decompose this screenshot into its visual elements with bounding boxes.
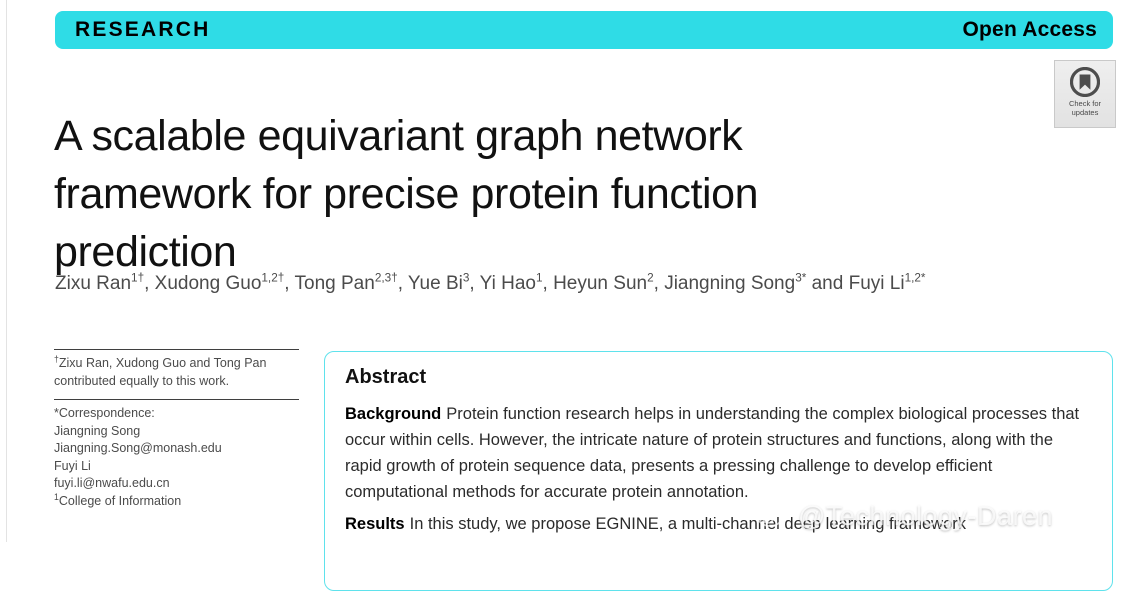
sidenote-divider-middle	[54, 399, 299, 400]
abstract-heading: Abstract	[345, 366, 1092, 389]
corresponding-author-email-2[interactable]: fuyi.li@nwafu.edu.cn	[54, 475, 299, 493]
abstract-section-results: ResultsIn this study, we propose EGNINE,…	[345, 511, 1092, 537]
corresponding-author-email-1[interactable]: Jiangning.Song@monash.edu	[54, 440, 299, 458]
abstract-panel: Abstract BackgroundProtein function rese…	[324, 351, 1113, 591]
corresponding-author-name-2: Fuyi Li	[54, 458, 299, 476]
correspondence-note: *Correspondence: Jiangning Song Jiangnin…	[54, 405, 299, 510]
affiliation-1: 1College of Information	[54, 493, 299, 511]
sidenotes-column: †Zixu Ran, Xudong Guo and Tong Pan contr…	[54, 349, 299, 519]
crossmark-label-line2: updates	[1072, 108, 1099, 117]
abstract-section-label-background: Background	[345, 405, 441, 423]
open-access-label: Open Access	[963, 18, 1098, 42]
abstract-section-text-background: Protein function research helps in under…	[345, 405, 1079, 501]
equal-contribution-note: †Zixu Ran, Xudong Guo and Tong Pan contr…	[54, 355, 299, 390]
article-type-banner: RESEARCH Open Access	[55, 11, 1113, 49]
article-title: A scalable equivariant graph network fra…	[54, 107, 889, 281]
author-list: Zixu Ran1†, Xudong Guo1,2†, Tong Pan2,3†…	[55, 271, 1035, 297]
sidenote-divider-top	[54, 349, 299, 350]
equal-contribution-text: †Zixu Ran, Xudong Guo and Tong Pan contr…	[54, 355, 299, 390]
page-gutter-rule	[6, 0, 7, 542]
check-for-updates-badge[interactable]: Check for updates	[1054, 60, 1116, 128]
abstract-section-text-results: In this study, we propose EGNINE, a mult…	[410, 515, 966, 533]
abstract-section-background: BackgroundProtein function research help…	[345, 401, 1092, 505]
corresponding-author-name-1: Jiangning Song	[54, 423, 299, 441]
abstract-section-label-results: Results	[345, 515, 405, 533]
crossmark-circle-icon	[1070, 67, 1100, 97]
correspondence-label: *Correspondence:	[54, 405, 299, 423]
article-type-label: RESEARCH	[75, 18, 210, 42]
crossmark-label: Check for updates	[1069, 100, 1101, 117]
